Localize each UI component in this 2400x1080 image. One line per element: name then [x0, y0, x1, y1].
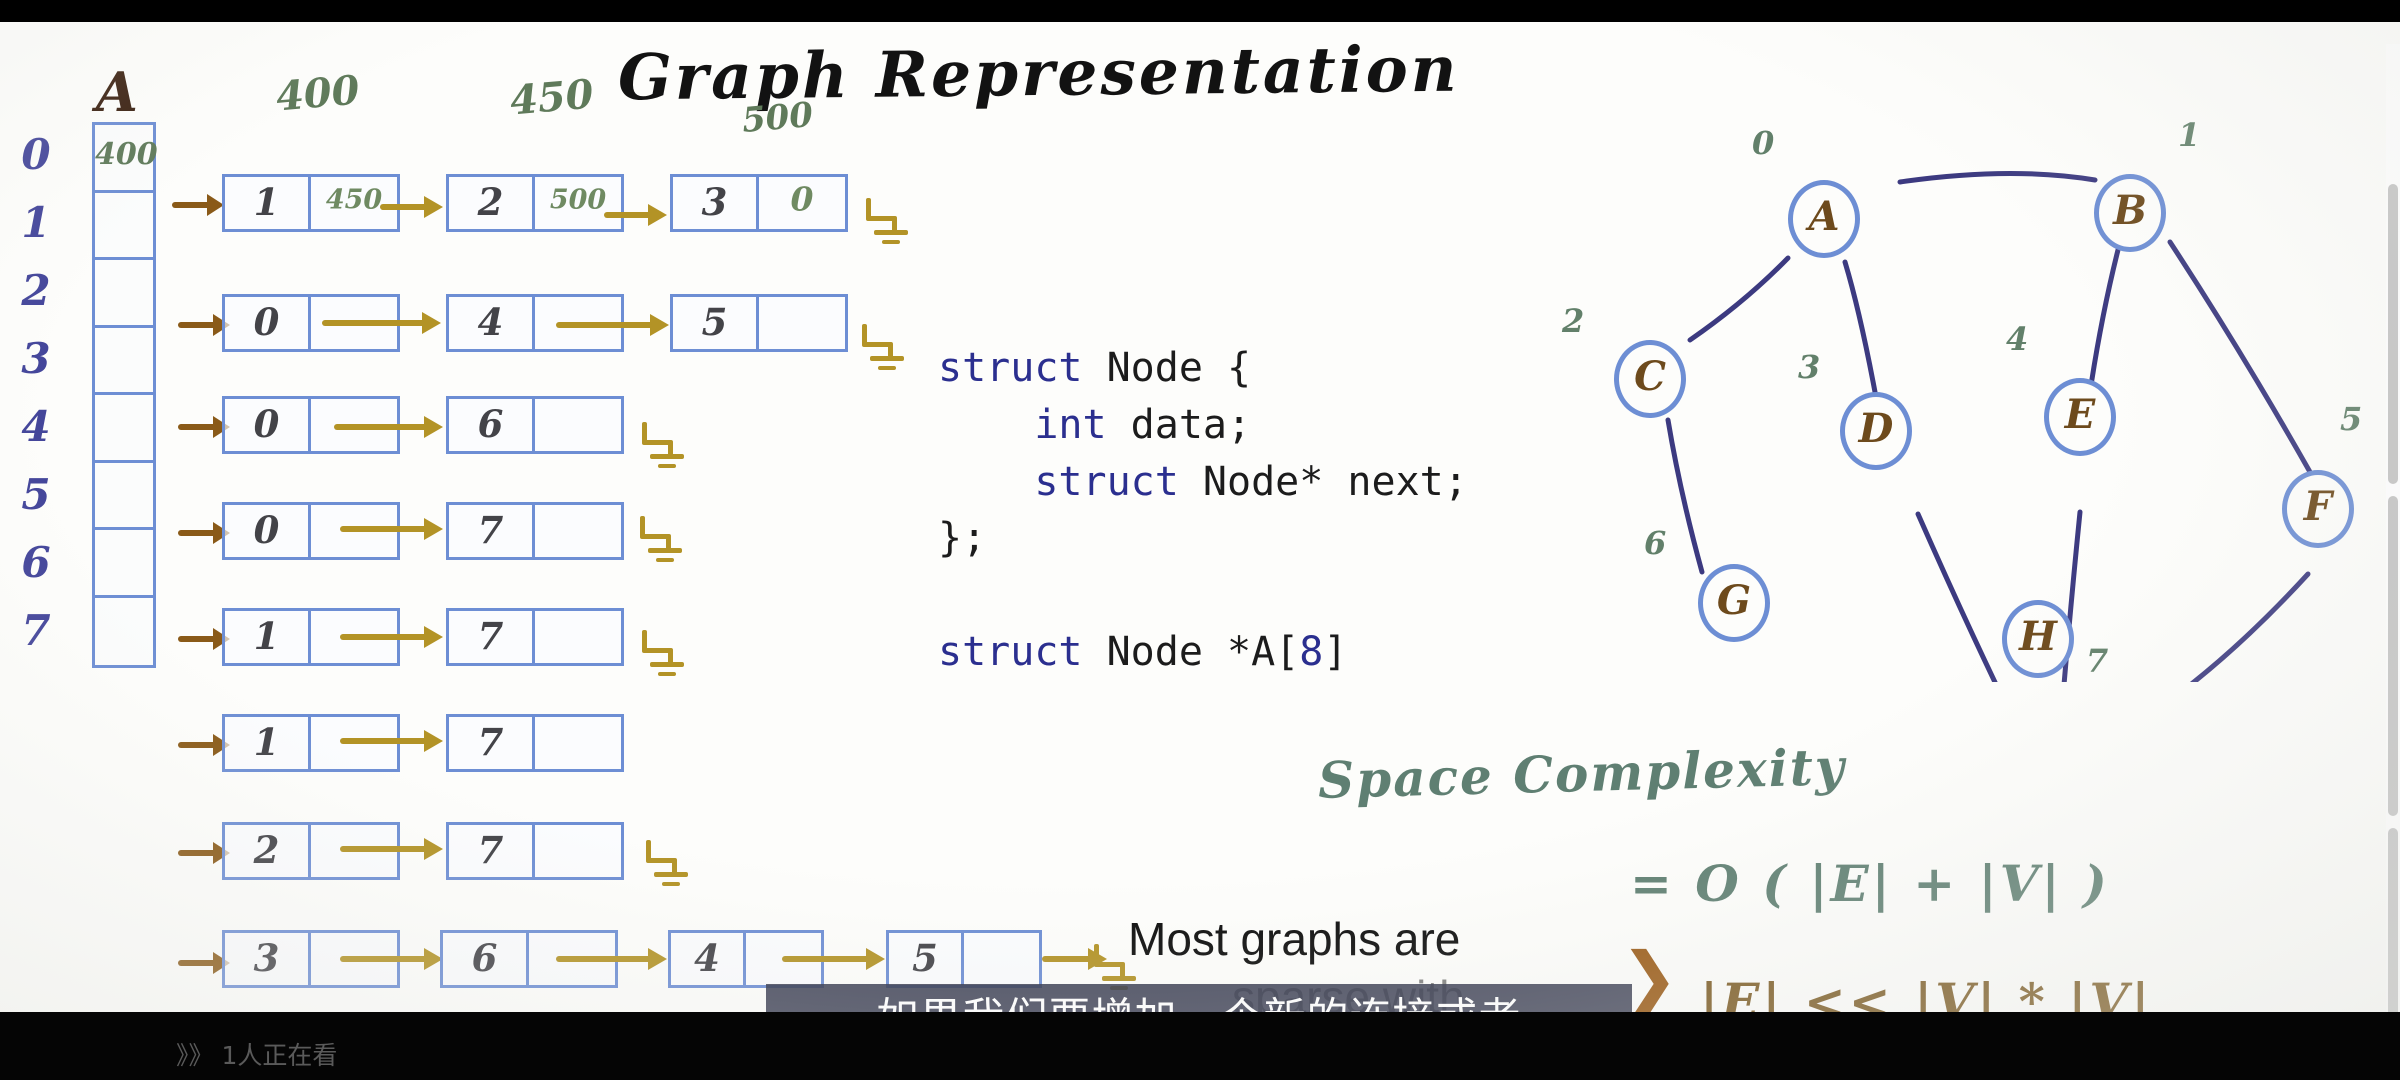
- list-node-r2-n1: 6: [446, 396, 624, 454]
- video-frame: Graph Representation A 0 1 2 3 4 5 6 7 4…: [0, 0, 2400, 1080]
- address-label-400: 400: [274, 66, 361, 120]
- letterbox-top-bar: [0, 0, 2400, 22]
- scrollbar-thumb-1[interactable]: [2388, 184, 2398, 484]
- node-next-cell: [535, 399, 621, 451]
- row-index-3: 3: [16, 334, 56, 383]
- array-label: A: [96, 60, 138, 124]
- node-data-cell: 7: [449, 505, 535, 557]
- next-arrow-r7-2: [782, 946, 886, 972]
- next-arrow-r1-1: [556, 312, 670, 338]
- node-data-cell: 1: [225, 611, 311, 663]
- next-arrow-r2-0: [334, 414, 444, 440]
- head-arrow-row-0: [172, 192, 224, 218]
- array-cell-0-value: 400: [95, 137, 153, 172]
- array-cell-6: [95, 530, 153, 598]
- code-block: struct Node { int data; struct Node* nex…: [938, 340, 1468, 681]
- code-array-size: 8: [1299, 629, 1323, 675]
- row-index-4: 4: [16, 402, 56, 451]
- code-line-3-rest: Node* next;: [1179, 459, 1468, 505]
- next-arrow-r7-0: [340, 946, 444, 972]
- graph-node-B-index: 1: [2178, 116, 2200, 154]
- graph-node-F[interactable]: F: [2282, 470, 2354, 548]
- graph-node-A-label: A: [1793, 193, 1855, 240]
- row-index-0: 0: [16, 130, 56, 179]
- array-cell-1: [95, 193, 153, 261]
- node-data-cell: 0: [225, 505, 311, 557]
- graph-node-G-index: 6: [1644, 524, 1666, 562]
- graph-node-B-label: B: [2099, 187, 2161, 234]
- node-next-cell: [964, 933, 1039, 985]
- space-complexity-equation: = O ( |E| + |V| ): [1630, 854, 2110, 913]
- node-data-cell: 5: [889, 933, 964, 985]
- address-label-450: 450: [508, 70, 595, 124]
- list-node-r0-n1: 2 500: [446, 174, 624, 232]
- node-data-cell: 2: [225, 825, 311, 877]
- list-node-r5-n1: 7: [446, 714, 624, 772]
- edge-A-B: [1900, 173, 2095, 182]
- next-arrow-r6-0: [340, 836, 444, 862]
- node-data-cell: 6: [443, 933, 529, 985]
- node-data-value: 6: [443, 936, 526, 980]
- node-data-value: 1: [225, 720, 308, 764]
- scrollbar-thumb-3[interactable]: [2388, 828, 2398, 1028]
- edge-F-H: [2090, 574, 2308, 682]
- row-index-2: 2: [16, 266, 56, 315]
- graph-node-F-label: F: [2287, 483, 2349, 530]
- next-arrow-r7-1: [556, 946, 668, 972]
- node-data-value: 5: [673, 300, 756, 344]
- node-data-cell: 6: [449, 399, 535, 451]
- graph-node-E-index: 4: [2006, 320, 2028, 358]
- code-keyword-struct: struct: [938, 345, 1083, 391]
- list-node-r6-n1: 7: [446, 822, 624, 880]
- node-data-value: 6: [449, 402, 532, 446]
- graph-node-A[interactable]: A: [1788, 180, 1860, 258]
- node-data-cell: 4: [449, 297, 535, 349]
- node-data-cell: 0: [225, 297, 311, 349]
- node-data-cell: 7: [449, 717, 535, 769]
- list-node-r4-n1: 7: [446, 608, 624, 666]
- edge-B-E: [2090, 242, 2120, 392]
- node-next-cell: [759, 297, 845, 349]
- scrollbar-track[interactable]: [2386, 44, 2400, 1034]
- graph-node-G[interactable]: G: [1698, 564, 1770, 642]
- node-data-cell: 1: [225, 177, 311, 229]
- code-line-4: };: [938, 515, 986, 561]
- overlay-caption-line-1: Most graphs are: [1128, 912, 1460, 966]
- node-data-value: 7: [449, 614, 532, 658]
- graph-node-H[interactable]: H: [2002, 600, 2074, 678]
- node-data-value: 3: [225, 936, 308, 980]
- edge-A-C: [1690, 258, 1788, 340]
- node-next-value: 0: [759, 180, 845, 219]
- edge-A-D: [1845, 262, 1875, 392]
- node-data-value: 7: [449, 508, 532, 552]
- graph-node-A-index: 0: [1752, 124, 1774, 162]
- graph-node-C[interactable]: C: [1614, 340, 1686, 418]
- code-line-5-end: ]: [1323, 629, 1347, 675]
- graph-node-D[interactable]: D: [1840, 392, 1912, 470]
- code-line-5-mid: Node *A[: [1083, 629, 1300, 675]
- edge-B-F: [2170, 242, 2310, 472]
- list-node-r0-n0: 1 450: [222, 174, 400, 232]
- node-data-cell: 1: [225, 717, 311, 769]
- next-arrow-r3-0: [340, 516, 444, 542]
- next-arrow-r5-0: [340, 728, 444, 754]
- node-data-value: 0: [225, 402, 308, 446]
- node-next-cell: [535, 717, 621, 769]
- node-data-value: 4: [449, 300, 532, 344]
- code-line-2-rest: data;: [1107, 402, 1252, 448]
- next-arrow-r0-1: [604, 202, 668, 228]
- graph-node-E[interactable]: E: [2044, 378, 2116, 456]
- node-data-cell: 2: [449, 177, 535, 229]
- graph-node-C-label: C: [1619, 353, 1681, 400]
- graph-node-E-label: E: [2049, 391, 2111, 438]
- scrollbar-thumb-2[interactable]: [2388, 496, 2398, 816]
- viewer-count-label: 》》 1人正在看: [176, 1036, 337, 1072]
- graph-node-F-index: 5: [2340, 400, 2362, 438]
- code-keyword-int: int: [1034, 402, 1106, 448]
- pointer-array: 400: [92, 122, 156, 668]
- node-data-cell: 3: [673, 177, 759, 229]
- node-data-cell: 7: [449, 825, 535, 877]
- row-index-6: 6: [16, 538, 56, 587]
- space-complexity-heading: Space Complexity: [1317, 737, 1846, 810]
- node-data-value: 0: [225, 300, 308, 344]
- address-label-500: 500: [740, 95, 814, 141]
- node-next-cell: [535, 611, 621, 663]
- code-keyword-struct-2: struct: [1034, 459, 1179, 505]
- node-data-value: 3: [673, 180, 756, 224]
- graph-node-B[interactable]: B: [2094, 174, 2166, 252]
- list-node-r1-n2: 5: [670, 294, 848, 352]
- graph-diagram: A 0 B 1 C 2 D 3 E 4 F 5 G 6 H 7: [1540, 62, 2400, 682]
- graph-node-D-label: D: [1845, 405, 1907, 452]
- node-data-value: 2: [449, 180, 532, 224]
- node-data-cell: 3: [225, 933, 311, 985]
- node-data-value: 4: [671, 936, 743, 980]
- graph-node-H-label: H: [2007, 613, 2069, 660]
- node-data-value: 0: [225, 508, 308, 552]
- array-cell-3: [95, 328, 153, 396]
- array-cell-5: [95, 463, 153, 531]
- array-cell-4: [95, 395, 153, 463]
- row-index-1: 1: [16, 198, 56, 247]
- graph-node-H-index: 7: [2086, 642, 2108, 680]
- node-data-cell: 5: [673, 297, 759, 349]
- node-data-value: 2: [225, 828, 308, 872]
- node-data-value: 1: [225, 614, 308, 658]
- whiteboard-canvas: Graph Representation A 0 1 2 3 4 5 6 7 4…: [0, 22, 2400, 1012]
- edge-D-H: [1918, 514, 2020, 682]
- code-line-1-rest: Node {: [1083, 345, 1252, 391]
- node-next-cell: [535, 505, 621, 557]
- node-data-value: 1: [225, 180, 308, 224]
- node-data-value: 7: [449, 720, 532, 764]
- node-data-cell: 7: [449, 611, 535, 663]
- node-data-cell: 0: [225, 399, 311, 451]
- node-next-cell: [535, 825, 621, 877]
- graph-node-D-index: 3: [1798, 348, 1820, 386]
- next-arrow-r0-0: [380, 194, 444, 220]
- code-keyword-struct-3: struct: [938, 629, 1083, 675]
- array-cell-0: 400: [95, 125, 153, 193]
- letterbox-bottom-bar: [0, 1012, 2400, 1080]
- next-arrow-r4-0: [340, 624, 444, 650]
- row-index-5: 5: [16, 470, 56, 519]
- graph-node-G-label: G: [1703, 577, 1765, 624]
- node-data-value: 7: [449, 828, 532, 872]
- graph-node-C-index: 2: [1562, 302, 1584, 340]
- list-node-r0-n2: 3 0: [670, 174, 848, 232]
- list-node-r7-n3: 5: [886, 930, 1042, 988]
- list-node-r3-n1: 7: [446, 502, 624, 560]
- node-next-cell: 0: [759, 177, 845, 229]
- array-cell-2: [95, 260, 153, 328]
- array-cell-7: [95, 598, 153, 666]
- node-data-value: 5: [889, 936, 961, 980]
- row-index-7: 7: [16, 606, 56, 655]
- edge-C-G: [1668, 420, 1702, 572]
- node-data-cell: 4: [671, 933, 746, 985]
- next-arrow-r1-0: [322, 310, 442, 336]
